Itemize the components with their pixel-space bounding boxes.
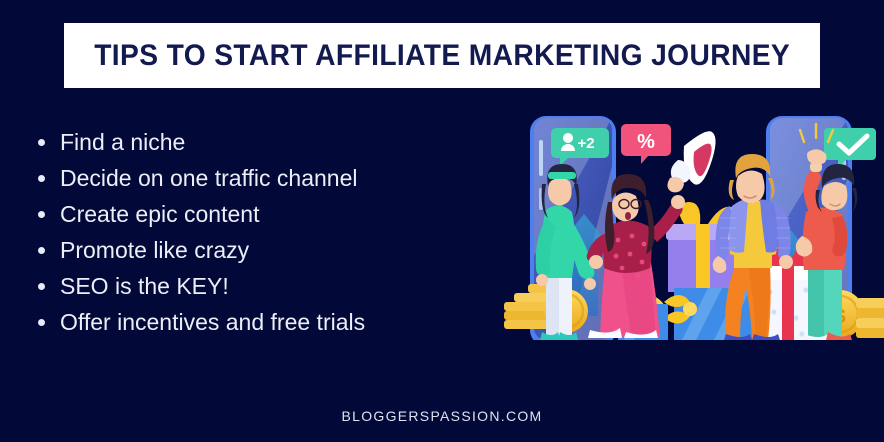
tips-list: Find a niche Decide on one traffic chann… [30, 124, 490, 340]
bullet-dot-icon [38, 319, 45, 326]
list-item-label: Find a niche [60, 129, 185, 155]
affiliate-marketing-illustration: +2 % [498, 106, 884, 340]
list-item: Offer incentives and free trials [30, 304, 490, 340]
svg-text:+2: +2 [577, 135, 594, 152]
list-item: Create epic content [30, 196, 490, 232]
footer-source-label: BLOGGERSPASSION.COM [0, 408, 884, 424]
bullet-dot-icon [38, 175, 45, 182]
discount-badge-icon: % [621, 124, 671, 164]
list-item: Promote like crazy [30, 232, 490, 268]
bullet-dot-icon [38, 211, 45, 218]
page-title: TIPS TO START AFFILIATE MARKETING JOURNE… [94, 39, 790, 73]
list-item: SEO is the KEY! [30, 268, 490, 304]
bullet-dot-icon [38, 139, 45, 146]
list-item-label: SEO is the KEY! [60, 273, 229, 299]
list-item: Find a niche [30, 124, 490, 160]
list-item: Decide on one traffic channel [30, 160, 490, 196]
list-item-label: Promote like crazy [60, 237, 249, 263]
bullet-dot-icon [38, 283, 45, 290]
list-item-label: Offer incentives and free trials [60, 309, 365, 335]
svg-text:%: % [637, 131, 655, 153]
list-item-label: Decide on one traffic channel [60, 165, 358, 191]
title-banner: TIPS TO START AFFILIATE MARKETING JOURNE… [64, 23, 820, 88]
bullet-dot-icon [38, 247, 45, 254]
megaphone-icon [667, 131, 715, 192]
list-item-label: Create epic content [60, 201, 259, 227]
infographic-canvas: TIPS TO START AFFILIATE MARKETING JOURNE… [0, 0, 884, 442]
